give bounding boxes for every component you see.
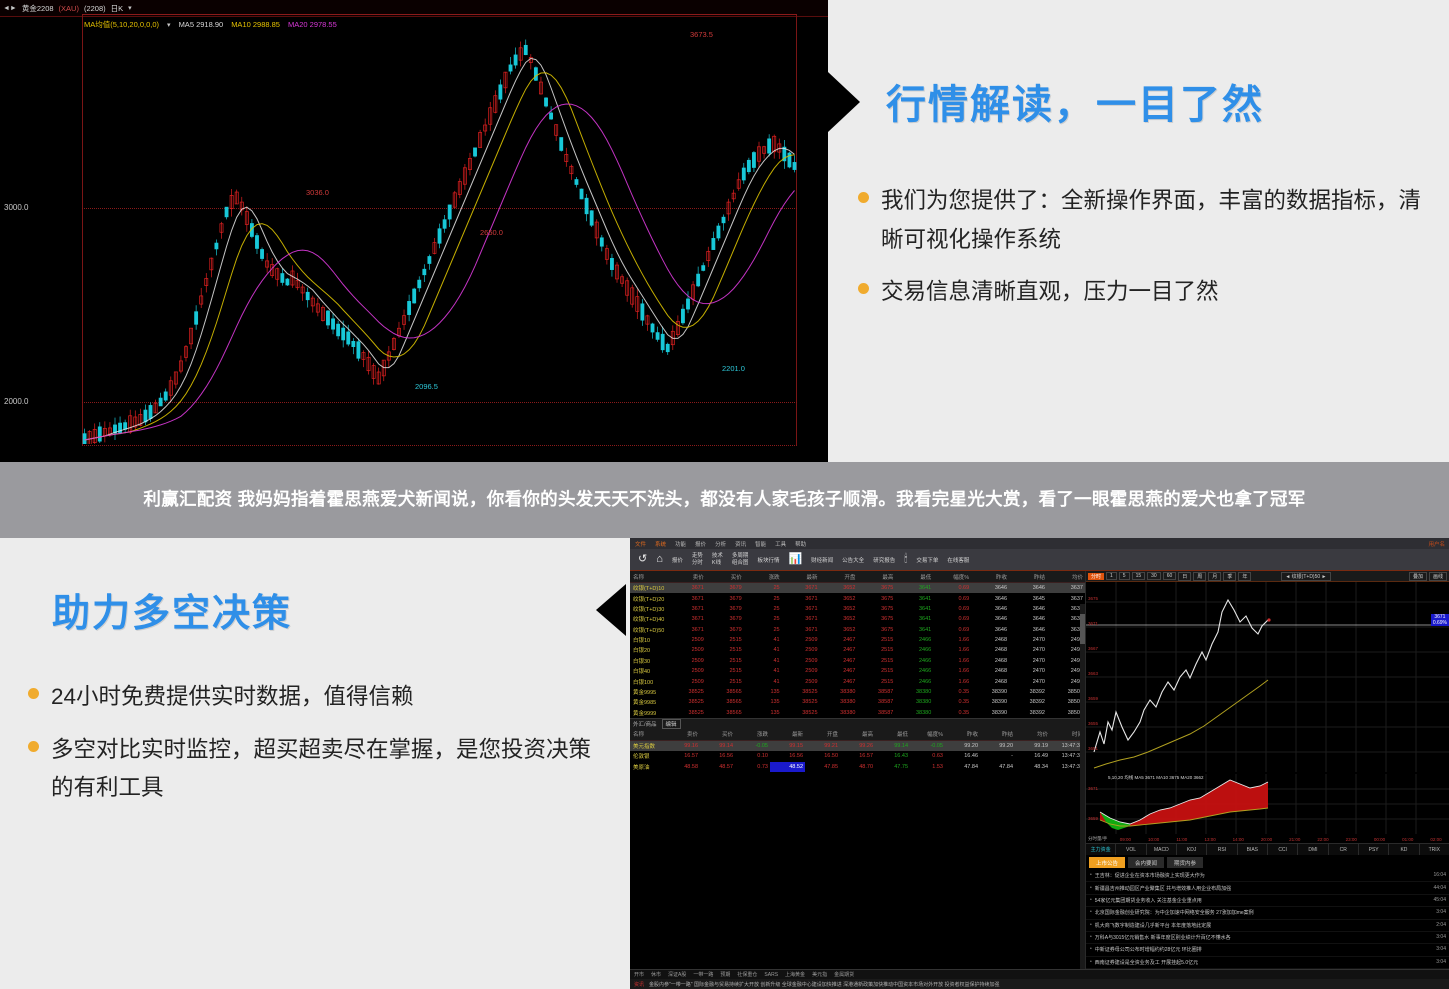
home-icon[interactable]: ⌂ (653, 554, 666, 565)
col-header-11[interactable]: 均价 (1015, 729, 1050, 741)
pointer-arrow-left-icon (596, 584, 626, 636)
cell-9: 47.84 (945, 762, 980, 772)
intraday-chart[interactable]: 3675 3671 3667 3663 3659 3655 3651 3671 … (1086, 582, 1449, 772)
toolbar-label: 板块行情 (757, 556, 779, 564)
chart-gridline-top (82, 14, 797, 15)
chart-gridline-bottom (82, 445, 797, 446)
news-item[interactable]: •新疆昌吉州推动园区产业聚集区 共与增效推人用企业布局加强44:04 (1086, 882, 1449, 894)
cell-8: 1.66 (933, 656, 971, 666)
cell-1: 38525 (668, 697, 706, 707)
cell-3: 25 (744, 583, 782, 594)
cell-10: 47.84 (980, 762, 1015, 772)
cell-4: 2509 (782, 656, 820, 666)
col-header-7[interactable]: 最低 (895, 571, 933, 583)
col-header-6[interactable]: 最高 (857, 571, 895, 583)
cell-8: 1.66 (933, 645, 971, 655)
cell-0: 美原油 (630, 762, 665, 772)
research-button[interactable]: 研究报告 (870, 556, 898, 564)
cell-9: 16.46 (945, 751, 980, 761)
cell-8: 0.35 (933, 708, 971, 718)
news-tab-0[interactable]: 上市公告 (1089, 857, 1125, 868)
menu-username[interactable]: 用户名 (1428, 540, 1445, 548)
news-button[interactable]: 财经新闻 (808, 556, 836, 564)
cell-9: 2468 (971, 645, 1009, 655)
terminal-toolbar[interactable]: ↺⌂报价走势分时技术K线多周期组合图板块行情📊财经新闻公告大全研究报告🕯交易下单… (630, 549, 1449, 571)
news-item[interactable]: •西南证券建设是全资业务及工 开展挂起5.0亿元3:04 (1086, 957, 1449, 969)
cell-7: 3641 (895, 593, 933, 603)
footer-tag-6[interactable]: SARS (764, 972, 778, 978)
col-header-9[interactable]: 昨收 (971, 571, 1009, 583)
cell-4: 3671 (782, 604, 820, 614)
cell-8: 0.69 (933, 583, 971, 594)
indicator-tab-CCI[interactable]: CCI (1268, 844, 1298, 855)
menu-item-7[interactable]: 工具 (775, 540, 786, 548)
col-header-5[interactable]: 开盘 (820, 571, 858, 583)
col-header-8[interactable]: 幅度% (933, 571, 971, 583)
x-axis-label: 分时量/手 (1088, 836, 1107, 842)
cell-1: 2509 (668, 676, 706, 686)
col-header-10[interactable]: 昨结 (1009, 571, 1047, 583)
cell-5: 3652 (820, 625, 858, 635)
trading-terminal[interactable]: 文件系统功能报价分析资讯智能工具帮助用户名 ↺⌂报价走势分时技术K线多周期组合图… (630, 538, 1449, 989)
notice-button[interactable]: 公告大全 (839, 556, 867, 564)
trade-icon[interactable]: 🕯 (901, 554, 910, 565)
cell-0: 纹银(T+D)50 (630, 625, 668, 635)
table-row[interactable]: 伦敦银16.5716.560.1016.5616.5016.5716.430.6… (630, 751, 1085, 761)
table-row[interactable]: 纹银(T+D)30367136792536713652367536410.693… (630, 604, 1085, 614)
cell-4: 3671 (782, 625, 820, 635)
page-root: ◄► 黄金2208 (XAU) (2208) 日K ▾ MA均值(5,10,20… (0, 0, 1449, 989)
toolbar-label: 在线客服 (947, 556, 969, 564)
indicator-tab-DMI[interactable]: DMI (1298, 844, 1328, 855)
cell-6: 48.70 (840, 762, 875, 772)
trend-button[interactable]: 走势分时 (689, 553, 706, 566)
cell-8: 1.66 (933, 666, 971, 676)
cell-2: 3679 (706, 593, 744, 603)
indicator-tab-VOL[interactable]: VOL (1116, 844, 1146, 855)
y-tick-5: 3655 (1088, 721, 1098, 726)
bullet-dot-icon: • (1090, 897, 1092, 904)
footer-tag-3[interactable]: 一带一路 (693, 971, 713, 978)
cell-2: 2515 (706, 666, 744, 676)
bullet-item: 多空对比实时监控，超买超卖尽在掌握，是您投资决策的有利工具 (28, 731, 618, 808)
bullet-item: 交易信息清晰直观，压力一目了然 (858, 273, 1438, 312)
cell-0: 白银20 (630, 645, 668, 655)
col-header-4[interactable]: 最新 (770, 729, 805, 741)
x-tick-0: 09:00 (1111, 837, 1139, 842)
news-item[interactable]: •王吉林：促进企业在资本市场融资上实现更大作为16:04 (1086, 870, 1449, 882)
indicator-tab-KD[interactable]: KD (1389, 844, 1419, 855)
cell-3: 25 (744, 614, 782, 624)
news-item[interactable]: •北京国际金融创业研究院：为中企加速中网络安全服务 27涨加加me案例3:04 (1086, 907, 1449, 919)
cell-7: 2466 (895, 666, 933, 676)
news-item[interactable]: •机大商飞数字制造建设几乎新平台 本年度落地此定展2:04 (1086, 920, 1449, 932)
col-header-3[interactable]: 涨跌 (735, 729, 770, 741)
cell-2: 38565 (706, 697, 744, 707)
period-button-年[interactable]: 年 (1238, 572, 1251, 581)
cell-7: 16.43 (875, 751, 910, 761)
cell-3: 41 (744, 666, 782, 676)
news-time: 3:04 (1436, 959, 1446, 966)
cell-3: 41 (744, 645, 782, 655)
quote-panel[interactable]: 名称卖价买价涨跌最新开盘最高最低幅度%昨收昨结均价 纹银(T+D)1036713… (630, 571, 1085, 989)
cell-2: 99.14 (700, 740, 735, 751)
x-tick-4: 14:00 (1224, 837, 1252, 842)
market-button[interactable]: 板块行情 (754, 556, 782, 564)
chart-symbol: 黄金2208 (22, 3, 54, 14)
period-button-15[interactable]: 15 (1132, 572, 1146, 580)
cell-8: 1.53 (910, 762, 945, 772)
cell-4: 38525 (782, 697, 820, 707)
cell-1: 3671 (668, 604, 706, 614)
menu-item-8[interactable]: 帮助 (795, 540, 806, 548)
col-header-8[interactable]: 幅度% (910, 729, 945, 741)
cell-7: 3641 (895, 583, 933, 594)
undo-icon: ↺ (638, 554, 647, 565)
footer-tag-1[interactable]: 休市 (651, 971, 661, 978)
sub-panel-label: 外汇/商品 (633, 720, 657, 728)
table-row[interactable]: 白银100250925154125092467251524661.6624682… (630, 676, 1085, 686)
cell-8: 1.66 (933, 676, 971, 686)
bullet-dot-icon: • (1090, 959, 1092, 966)
news-tab-2[interactable]: 期货内参 (1167, 857, 1203, 868)
annotation-3036: 3036.0 (306, 188, 329, 197)
x-tick-5: 20:00 (1252, 837, 1280, 842)
footer-tag-7[interactable]: 上海黄金 (785, 971, 805, 978)
label-bottom: 组合图 (732, 560, 749, 566)
period-button-日[interactable]: 日 (1178, 572, 1191, 581)
quote-table-body[interactable]: 纹银(T+D)10367136792536713652367536410.693… (630, 583, 1085, 718)
chart-button-画线[interactable]: 画线 (1429, 572, 1447, 581)
footer-tag-0[interactable]: 开市 (634, 971, 644, 978)
col-header-0[interactable]: 名称 (630, 729, 665, 741)
table-row[interactable]: 白银20250925154125092467251524661.66246824… (630, 645, 1085, 655)
period-button-月[interactable]: 月 (1208, 572, 1221, 581)
menu-item-6[interactable]: 智能 (755, 540, 766, 548)
cell-3: 0.73 (735, 762, 770, 772)
news-time: 2:04 (1436, 922, 1446, 929)
chart-period: (2208) (84, 4, 106, 13)
chart-market: (XAU) (59, 4, 79, 13)
cell-5: 38380 (820, 687, 858, 697)
quote-table[interactable]: 名称卖价买价涨跌最新开盘最高最低幅度%昨收昨结均价 纹银(T+D)1036713… (630, 571, 1085, 718)
cell-4: 99.15 (770, 740, 805, 751)
volume-chart[interactable]: 5,10,20 均线 MA5 3671 MA10 3675 MA20 3662 … (1086, 774, 1449, 834)
cell-9: 2468 (971, 635, 1009, 645)
chevron-down-icon[interactable]: ▾ (128, 4, 132, 12)
cell-1: 16.57 (665, 751, 700, 761)
cell-6: 2515 (857, 645, 895, 655)
menu-item-4[interactable]: 分析 (715, 540, 726, 548)
toolbar-label: 公告大全 (842, 556, 864, 564)
x-tick-8: 23:00 (1337, 837, 1365, 842)
bottom-table-body[interactable]: 美元指数99.1699.14-0.0599.1599.2199.2699.14-… (630, 740, 1085, 772)
col-header-1[interactable]: 卖价 (668, 571, 706, 583)
cell-1: 38525 (668, 708, 706, 718)
footer-tags[interactable]: 开市休市深证A股一带一路预期社保重仓SARS上海黄金美元指金属期货 (630, 970, 1449, 979)
col-header-2[interactable]: 买价 (706, 571, 744, 583)
cell-2: 16.56 (700, 751, 735, 761)
label-stack: 多周期组合图 (732, 553, 749, 566)
cell-5: 2467 (820, 666, 858, 676)
toolbar-label: 财经新闻 (811, 556, 833, 564)
news-item[interactable]: •54家亿元集团期货业务收入 关注基金企业重点用45:04 (1086, 895, 1449, 907)
cell-5: 38380 (820, 697, 858, 707)
cell-6: 3675 (857, 604, 895, 614)
cell-3: 135 (744, 697, 782, 707)
col-header-5[interactable]: 开盘 (805, 729, 840, 741)
news-item[interactable]: •中新证券母公司公布时增幅约约28亿元 环比圈排3:04 (1086, 944, 1449, 956)
volume-ma-legend: 5,10,20 均线 MA5 3671 MA10 3675 MA20 3662 (1108, 775, 1204, 781)
table-row[interactable]: 白银30250925154125092467251524661.66246824… (630, 656, 1085, 666)
table-row[interactable]: 黄金99853852538565135385253838038587383800… (630, 697, 1085, 707)
table-row[interactable]: 白银10250925154125092467251524661.66246824… (630, 635, 1085, 645)
cell-10: 3646 (1009, 625, 1047, 635)
cell-9: 38390 (971, 708, 1009, 718)
bullet-dot-icon (28, 741, 39, 752)
news-time: 45:04 (1433, 897, 1446, 904)
cell-3: 135 (744, 687, 782, 697)
kline-chart-panel[interactable]: ◄► 黄金2208 (XAU) (2208) 日K ▾ MA均值(5,10,20… (0, 0, 828, 462)
menu-item-5[interactable]: 资讯 (735, 540, 746, 548)
x-tick-3: 13:00 (1196, 837, 1224, 842)
cell-4: 38525 (782, 687, 820, 697)
terminal-menubar[interactable]: 文件系统功能报价分析资讯智能工具帮助用户名 (630, 538, 1449, 549)
table-row[interactable]: 美元指数99.1699.14-0.0599.1599.2199.2699.14-… (630, 740, 1085, 751)
cell-11: 48.34 (1015, 762, 1050, 772)
menu-item-3[interactable]: 报价 (695, 540, 706, 548)
y-tick-0: 3675 (1088, 596, 1098, 601)
cell-4: 48.52 (770, 762, 805, 772)
indicator-tab-BIAS[interactable]: BIAS (1238, 844, 1268, 855)
kline-button[interactable]: 技术K线 (709, 553, 726, 566)
cell-2: 2515 (706, 656, 744, 666)
news-time: 3:04 (1436, 909, 1446, 916)
chat-button[interactable]: 在线客服 (944, 556, 972, 564)
x-tick-2: 11:00 (1168, 837, 1196, 842)
indicator-tab-CR[interactable]: CR (1329, 844, 1359, 855)
col-header-1[interactable]: 卖价 (665, 729, 700, 741)
news-item[interactable]: •万科A与3015亿元销售水 新事年度区别业绩计升百亿不懂水各3:04 (1086, 932, 1449, 944)
chart-icon[interactable]: 📊 (785, 554, 805, 565)
bullet-dot-icon: • (1090, 934, 1092, 941)
menu-item-2[interactable]: 功能 (675, 540, 686, 548)
table-row[interactable]: 纹银(T+D)20367136792536713652367536410.693… (630, 593, 1085, 603)
cell-11: 16.49 (1015, 751, 1050, 761)
cell-9: 3646 (971, 614, 1009, 624)
indicator-tab-主力资金[interactable]: 主力资金 (1086, 844, 1116, 855)
cell-5: 47.85 (805, 762, 840, 772)
indicator-tab-RSI[interactable]: RSI (1207, 844, 1237, 855)
cell-9: 3646 (971, 583, 1009, 594)
cell-0: 黄金9999 (630, 708, 668, 718)
table-row[interactable]: 黄金99953852538565135385253838038587383800… (630, 687, 1085, 697)
col-header-3[interactable]: 涨跌 (744, 571, 782, 583)
bullet-text: 多空对比实时监控，超买超卖尽在掌握，是您投资决策的有利工具 (51, 731, 611, 808)
news-time: 44:04 (1433, 885, 1446, 892)
cell-7: 2466 (895, 676, 933, 686)
period-button-季[interactable]: 季 (1223, 572, 1236, 581)
chart-period-toolbar[interactable]: 分时15153060日周月季年◄ 纹银(T+D)50 ►叠加画线 (1086, 571, 1449, 582)
cell-9: 3646 (971, 593, 1009, 603)
volume-tick-0: 3671 (1088, 786, 1098, 791)
cell-3: 41 (744, 676, 782, 686)
cell-5: 3652 (820, 593, 858, 603)
indicator-tab-PSY[interactable]: PSY (1359, 844, 1389, 855)
cell-0: 黄金9995 (630, 687, 668, 697)
table-row[interactable]: 白银40250925154125092467251524661.66246824… (630, 666, 1085, 676)
col-header-7[interactable]: 最低 (875, 729, 910, 741)
cell-0: 纹银(T+D)30 (630, 604, 668, 614)
chart-button-叠加[interactable]: 叠加 (1409, 572, 1427, 581)
bullet-text: 24小时免费提供实时数据，值得信赖 (51, 678, 414, 717)
indicator-tab-TRIX[interactable]: TRIX (1420, 844, 1449, 855)
cell-7: 2466 (895, 645, 933, 655)
x-tick-9: 00:00 (1365, 837, 1393, 842)
cell-3: 41 (744, 656, 782, 666)
footer-ticker-text: 金股内参"一带一路" 国际金融与贸易持续扩大开放 创新升级 全球金融中心建设加快… (649, 981, 1000, 988)
indicator-tab-MACD[interactable]: MACD (1147, 844, 1177, 855)
cell-6: 3675 (857, 583, 895, 594)
cell-8: 0.35 (933, 687, 971, 697)
news-list[interactable]: •王吉林：促进企业在资本市场融资上实现更大作为16:04•新疆昌吉州推动园区产业… (1086, 870, 1449, 981)
terminal-body: 名称卖价买价涨跌最新开盘最高最低幅度%昨收昨结均价 纹银(T+D)1036713… (630, 571, 1449, 989)
cell-3: 25 (744, 593, 782, 603)
bottom-table-header: 名称卖价买价涨跌最新开盘最高最低幅度%昨收昨结均价时间 (630, 729, 1085, 741)
sub-panel-header[interactable]: 外汇/商品 编辑 (630, 718, 1085, 729)
toolbar-label: 研究报告 (873, 556, 895, 564)
period-button-5[interactable]: 5 (1119, 572, 1130, 580)
cell-9: 3646 (971, 604, 1009, 614)
edit-button[interactable]: 编辑 (662, 719, 681, 729)
cell-1: 2509 (668, 645, 706, 655)
cell-9: 2468 (971, 656, 1009, 666)
multi-button[interactable]: 多周期组合图 (729, 553, 752, 566)
period-button-周[interactable]: 周 (1193, 572, 1206, 581)
news-tab-1[interactable]: 会内要闻 (1128, 857, 1164, 868)
bullet-dot-icon: • (1090, 872, 1092, 879)
indicator-tab-KDJ[interactable]: KDJ (1177, 844, 1207, 855)
table-row[interactable]: 黄金99993852538565135385253838038587383800… (630, 708, 1085, 718)
cell-6: 3675 (857, 614, 895, 624)
cell-0: 白银30 (630, 656, 668, 666)
period-button-60[interactable]: 60 (1163, 572, 1177, 580)
cell-7: 3641 (895, 604, 933, 614)
cell-9: 2468 (971, 676, 1009, 686)
table-row[interactable]: 纹银(T+D)40367136792536713652367536410.693… (630, 614, 1085, 624)
y-axis-label-0: 3000.0 (4, 203, 28, 212)
chart-daily-label[interactable]: 日K (111, 3, 124, 14)
trade-icon: 🕯 (904, 554, 907, 565)
undo-icon[interactable]: ↺ (635, 554, 650, 565)
col-header-4[interactable]: 最新 (782, 571, 820, 583)
cell-7: 2466 (895, 635, 933, 645)
cell-2: 38565 (706, 708, 744, 718)
cell-0: 白银100 (630, 676, 668, 686)
cell-6: 38587 (857, 708, 895, 718)
period-button-分时[interactable]: 分时 (1088, 573, 1104, 580)
cell-1: 48.58 (665, 762, 700, 772)
news-time: 3:04 (1436, 934, 1446, 941)
cell-9: 2468 (971, 666, 1009, 676)
table-row[interactable]: 美原油48.5848.570.7348.5247.8548.7047.751.5… (630, 762, 1085, 772)
cell-8: 0.63 (910, 751, 945, 761)
cell-6: 38587 (857, 687, 895, 697)
nav-left-icon[interactable]: ◄► (3, 5, 17, 12)
table-row[interactable]: 纹银(T+D)10367136792536713652367536410.693… (630, 583, 1085, 594)
footer-tag-8[interactable]: 美元指 (812, 971, 827, 978)
bottom-text-panel: 助力多空决策 24小时免费提供实时数据，值得信赖 多空对比实时监控，超买超卖尽在… (0, 538, 630, 989)
cell-10: 3646 (1009, 614, 1047, 624)
menu-item-1[interactable]: 系统 (655, 540, 666, 548)
cell-10: 2470 (1009, 645, 1047, 655)
news-title: 北京国际金融创业研究院：为中企加速中网络安全服务 27涨加加me案例 (1095, 909, 1433, 916)
bullet-dot-icon (858, 192, 869, 203)
x-axis-row: 分时量/手09:0010:0011:0013:0014:0020:0021:00… (1086, 835, 1449, 843)
cell-2: 3679 (706, 625, 744, 635)
col-header-9[interactable]: 昨收 (945, 729, 980, 741)
cell-10: 2470 (1009, 676, 1047, 686)
footer-tag-4[interactable]: 预期 (720, 971, 730, 978)
chart-news-panel[interactable]: 分时15153060日周月季年◄ 纹银(T+D)50 ►叠加画线 (1085, 571, 1449, 989)
cell-0: 白银40 (630, 666, 668, 676)
table-row[interactable]: 纹银(T+D)50367136792536713652367536410.693… (630, 625, 1085, 635)
period-button-30[interactable]: 30 (1147, 572, 1161, 580)
footer-ticker-row: 资讯 金股内参"一带一路" 国际金融与贸易持续扩大开放 创新升级 全球金融中心建… (630, 979, 1449, 989)
order-button[interactable]: 交易下单 (913, 556, 941, 564)
label-bottom: K线 (712, 560, 723, 566)
chart-icon: 📊 (788, 554, 802, 565)
cell-1: 2509 (668, 635, 706, 645)
footer-tag-9[interactable]: 金属期货 (834, 971, 854, 978)
cell-10: 2470 (1009, 635, 1047, 645)
cell-10: 38392 (1009, 687, 1047, 697)
col-header-11[interactable]: 均价 (1047, 571, 1085, 583)
cell-2: 48.57 (700, 762, 735, 772)
cell-0: 白银10 (630, 635, 668, 645)
cell-9: 38390 (971, 687, 1009, 697)
quote-button[interactable]: 报价 (669, 556, 686, 564)
symbol-dropdown[interactable]: ◄ 纹银(T+D)50 ► (1281, 572, 1330, 581)
indicator-tabs[interactable]: 主力资金VOLMACDKDJRSIBIASCCIDMICRPSYKDTRIX (1086, 843, 1449, 855)
col-header-0[interactable]: 名称 (630, 571, 668, 583)
col-header-6[interactable]: 最高 (840, 729, 875, 741)
cell-7: 38380 (895, 687, 933, 697)
bottom-quote-table[interactable]: 名称卖价买价涨跌最新开盘最高最低幅度%昨收昨结均价时间 美元指数99.1699.… (630, 729, 1085, 772)
col-header-2[interactable]: 买价 (700, 729, 735, 741)
period-button-1[interactable]: 1 (1106, 572, 1117, 580)
y-tick-2: 3667 (1088, 646, 1098, 651)
cell-5: 38380 (820, 708, 858, 718)
cell-10: 38392 (1009, 697, 1047, 707)
cell-4: 2509 (782, 635, 820, 645)
news-tabs[interactable]: 上市公告会内要闻期货内参 (1086, 856, 1449, 869)
chart-right-buttons: 叠加画线 (1409, 572, 1449, 581)
footer-tag-5[interactable]: 社保重仓 (737, 971, 757, 978)
cell-4: 38525 (782, 708, 820, 718)
cell-1: 99.16 (665, 740, 700, 751)
cell-6: 3675 (857, 593, 895, 603)
cell-4: 2509 (782, 666, 820, 676)
cell-7: 38380 (895, 697, 933, 707)
footer-tag-2[interactable]: 深证A股 (668, 971, 686, 978)
cell-8: 0.69 (933, 625, 971, 635)
cell-8: 0.69 (933, 593, 971, 603)
col-header-10[interactable]: 昨结 (980, 729, 1015, 741)
annotation-2201: 2201.0 (722, 364, 745, 373)
cell-5: 2467 (820, 656, 858, 666)
menu-item-0[interactable]: 文件 (635, 540, 646, 548)
